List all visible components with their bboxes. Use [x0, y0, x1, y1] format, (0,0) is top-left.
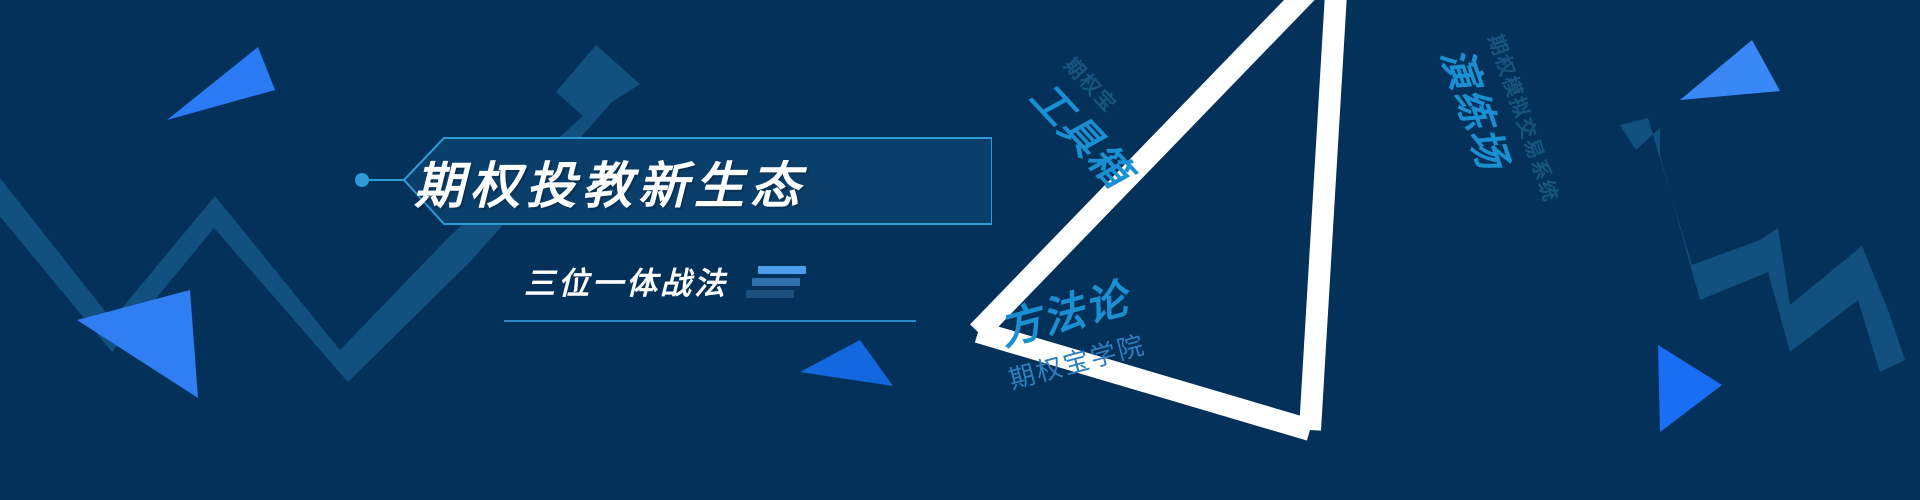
triangle-edge-left: [978, 0, 1338, 332]
triangle-diagram: 期权宝 工具箱 期权模拟交易系统 演练场 方法论 期权宝学院: [940, 0, 1920, 500]
subtitle-text: 三位一体战法: [524, 258, 728, 303]
bar-bright: [758, 266, 806, 274]
bar-dark: [746, 290, 794, 298]
subtitle-divider: [504, 320, 916, 322]
connector-dot-icon: [355, 173, 369, 187]
bar-mid: [752, 278, 800, 286]
subtitle-bars-icon: [746, 266, 806, 300]
title-block: 期权投教新生态 三位一体战法: [352, 118, 992, 378]
subtitle-row: 三位一体战法: [524, 258, 964, 328]
page-title: 期权投教新生态: [414, 146, 806, 218]
triangle-edge-right: [1310, 0, 1338, 430]
banner-root: 期权投教新生态 三位一体战法 期权宝 工具箱 期权模拟交易系统 演练场: [0, 0, 1920, 500]
